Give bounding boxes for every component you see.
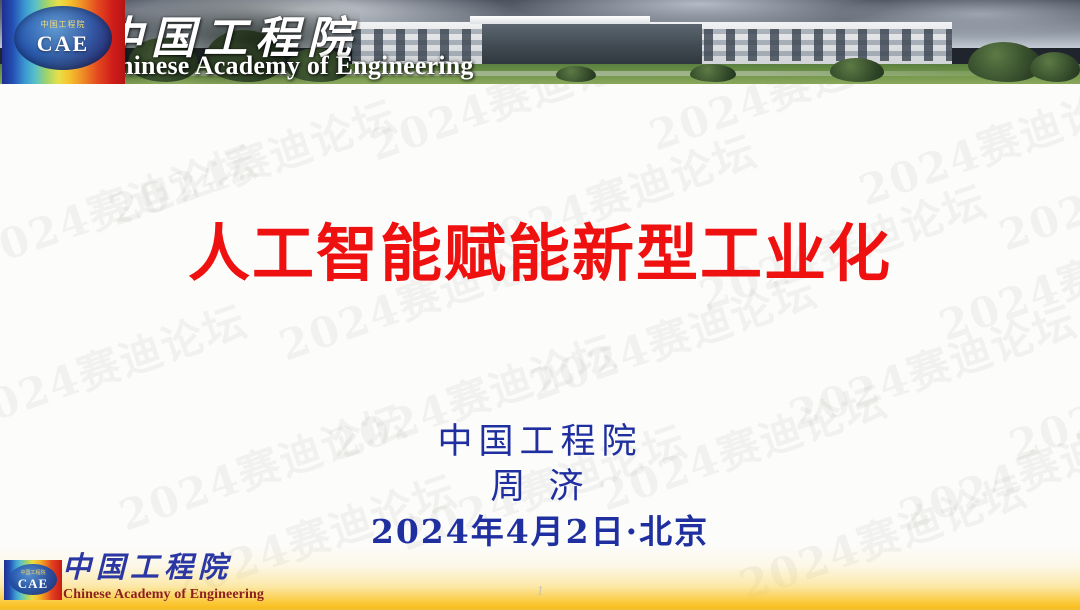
presentation-slide: 中国工程院 Chinese Academy of Engineering 中国工… xyxy=(0,0,1080,610)
slide-main-title: 人工智能赋能新型工业化 xyxy=(0,203,1080,293)
watermark-text: 2024赛迪论坛 xyxy=(640,84,944,163)
footer-chinese-title: 中国工程院 xyxy=(62,544,232,586)
tree-icon xyxy=(1030,52,1080,82)
presenter-affiliation: 中国工程院 xyxy=(0,420,1080,465)
tree-icon xyxy=(556,66,596,82)
building-glass-atrium xyxy=(482,24,702,68)
tree-icon xyxy=(830,58,884,82)
logo-acronym-text: CAE xyxy=(14,31,112,57)
watermark-text: 2024赛迪论坛 xyxy=(850,84,1080,218)
presenter-name: 周 济 xyxy=(0,465,1080,511)
page-number: 1 xyxy=(0,584,1080,600)
presenter-block: 中国工程院 周 济 2024年4月2日·北京 xyxy=(0,420,1080,554)
logo-globe-disc: 中国工程院 CAE xyxy=(14,6,112,70)
cae-rainbow-logo: 中国工程院 CAE xyxy=(2,0,125,84)
footer-logo-inner-chinese-text: 中国工程院 xyxy=(9,569,57,576)
building-roof-band xyxy=(470,16,650,24)
header-english-title: Chinese Academy of Engineering xyxy=(100,51,474,81)
watermark-text: 2024赛迪论坛 xyxy=(360,84,664,173)
logo-inner-chinese-text: 中国工程院 xyxy=(14,19,112,30)
header-banner: 中国工程院 Chinese Academy of Engineering 中国工… xyxy=(0,0,1080,84)
tree-icon xyxy=(690,64,736,82)
